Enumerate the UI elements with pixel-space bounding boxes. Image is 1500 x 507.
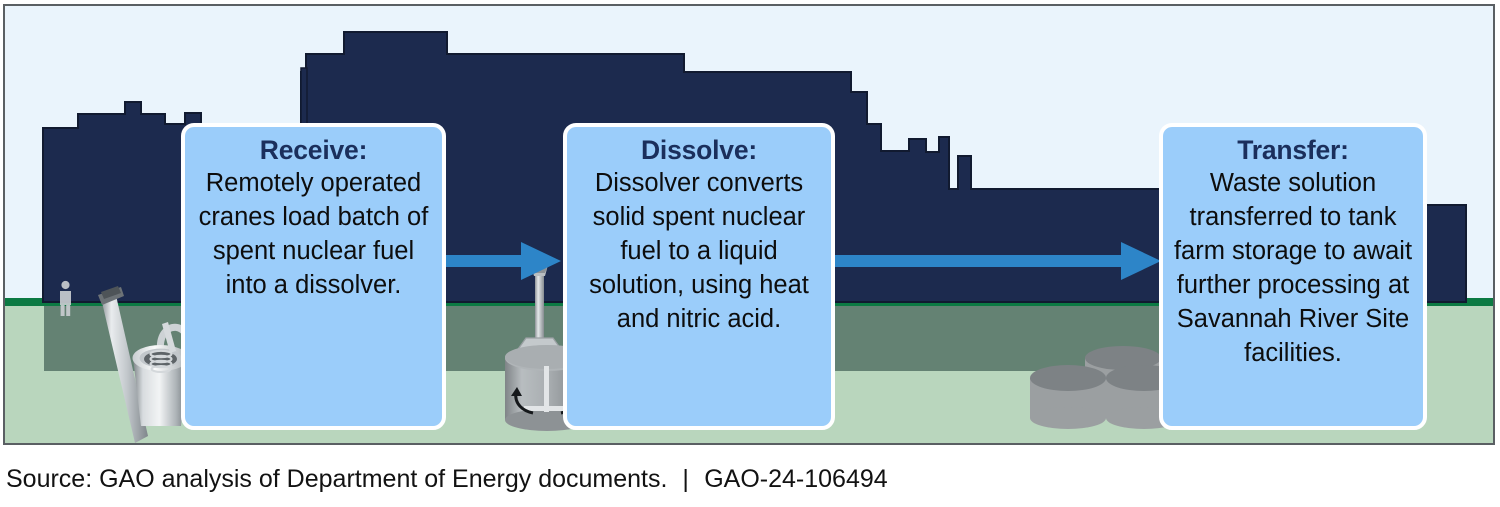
- source-separator: |: [667, 465, 704, 493]
- step-body-receive: Remotely operated cranes load batch of s…: [193, 167, 434, 303]
- step-box-dissolve: Dissolve: Dissolver converts solid spent…: [563, 123, 835, 430]
- step-title-transfer: Transfer:: [1171, 133, 1415, 167]
- source-note: Source: GAO analysis of Department of En…: [6, 465, 888, 494]
- step-title-receive: Receive:: [193, 133, 434, 167]
- step-box-receive: Receive: Remotely operated cranes load b…: [181, 123, 446, 430]
- step-title-dissolve: Dissolve:: [575, 133, 823, 167]
- illustration-frame: Receive: Remotely operated cranes load b…: [3, 4, 1495, 445]
- source-text: Source: GAO analysis of Department of En…: [6, 465, 667, 493]
- step-body-dissolve: Dissolver converts solid spent nuclear f…: [575, 167, 823, 337]
- step-box-transfer: Transfer: Waste solution transferred to …: [1159, 123, 1427, 430]
- figure-root: Receive: Remotely operated cranes load b…: [0, 0, 1500, 507]
- step-body-transfer: Waste solution transferred to tank farm …: [1171, 167, 1415, 370]
- report-number: GAO-24-106494: [704, 465, 887, 493]
